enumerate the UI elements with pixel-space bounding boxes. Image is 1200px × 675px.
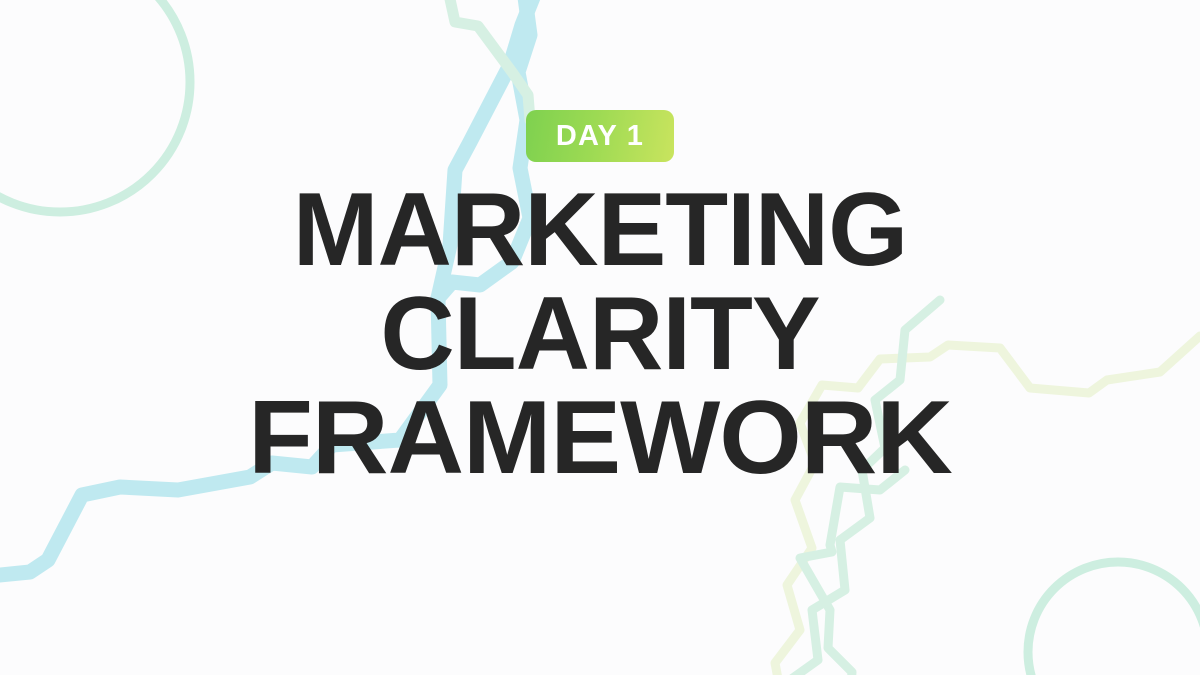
- title-line-3: FRAMEWORK: [0, 386, 1200, 490]
- slide-canvas: DAY 1 MARKETING CLARITY FRAMEWORK: [0, 0, 1200, 675]
- title-line-1: MARKETING: [6, 178, 1194, 282]
- page-title: MARKETING CLARITY FRAMEWORK: [0, 178, 1200, 490]
- title-line-2: CLARITY: [6, 282, 1194, 386]
- day-badge-label: DAY 1: [556, 122, 644, 151]
- day-badge: DAY 1: [526, 110, 674, 162]
- slide-content: DAY 1 MARKETING CLARITY FRAMEWORK: [0, 0, 1200, 675]
